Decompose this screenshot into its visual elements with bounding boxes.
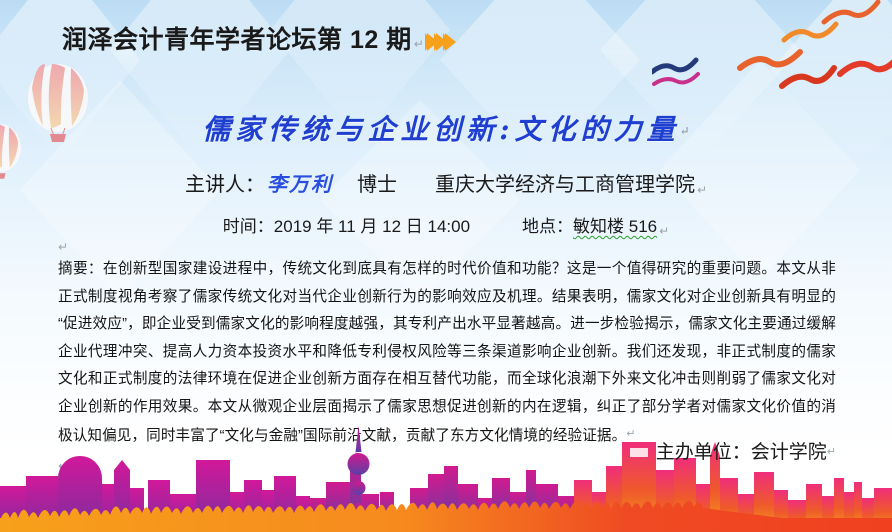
paragraph-mark: ↵ xyxy=(697,183,707,197)
paragraph-mark: ↵ xyxy=(626,428,635,440)
speaker-degree: 博士 xyxy=(357,174,397,196)
chevron-arrows xyxy=(427,33,454,51)
paragraph-mark: ↵ xyxy=(58,240,836,254)
paragraph-mark: ↵ xyxy=(659,224,669,238)
time-label: 时间： xyxy=(223,217,274,236)
speaker-line: 主讲人：李万利博士重庆大学经济与工商管理学院↵ xyxy=(0,168,892,197)
place-label: 地点： xyxy=(522,217,573,236)
page-title: 儒家传统与企业创新:文化的力量↵ xyxy=(0,108,892,148)
speaker-label: 主讲人： xyxy=(185,174,265,196)
abstract-text: 摘要：在创新型国家建设进程中，传统文化到底具有怎样的时代价值和功能？这是一个值得… xyxy=(58,256,836,451)
time-value: 2019 年 11 月 12 日 14:00 xyxy=(274,217,470,236)
speaker-affiliation: 重庆大学经济与工商管理学院 xyxy=(435,174,695,196)
header-line: 润泽会计青年学者论坛第 12 期 ↵ xyxy=(62,28,454,53)
event-meta: 时间：2019 年 11 月 12 日 14:00地点：敏知楼 516↵ xyxy=(0,212,892,237)
paragraph-mark: ↵ xyxy=(827,446,836,458)
abstract-body: 摘要：在创新型国家建设进程中，传统文化到底具有怎样的时代价值和功能？这是一个值得… xyxy=(58,261,836,444)
speaker-name: 李万利 xyxy=(265,172,335,196)
paragraph-mark: ↵ xyxy=(414,37,424,51)
chevron-right-icon xyxy=(445,33,456,51)
page-title-text: 儒家传统与企业创新:文化的力量 xyxy=(202,113,679,146)
seminar-poster: 润泽会计青年学者论坛第 12 期 ↵ 儒家传统与企业创新:文化的力量↵ 主讲人：… xyxy=(0,0,892,532)
paragraph-mark: ↵ xyxy=(680,124,690,138)
organizer-text: 主办单位：会计学院 xyxy=(656,442,827,463)
place-value: 敏知楼 516 xyxy=(573,217,657,236)
organizer-line: 主办单位：会计学院↵ xyxy=(656,437,836,464)
forum-title: 润泽会计青年学者论坛第 12 期 xyxy=(62,28,412,53)
